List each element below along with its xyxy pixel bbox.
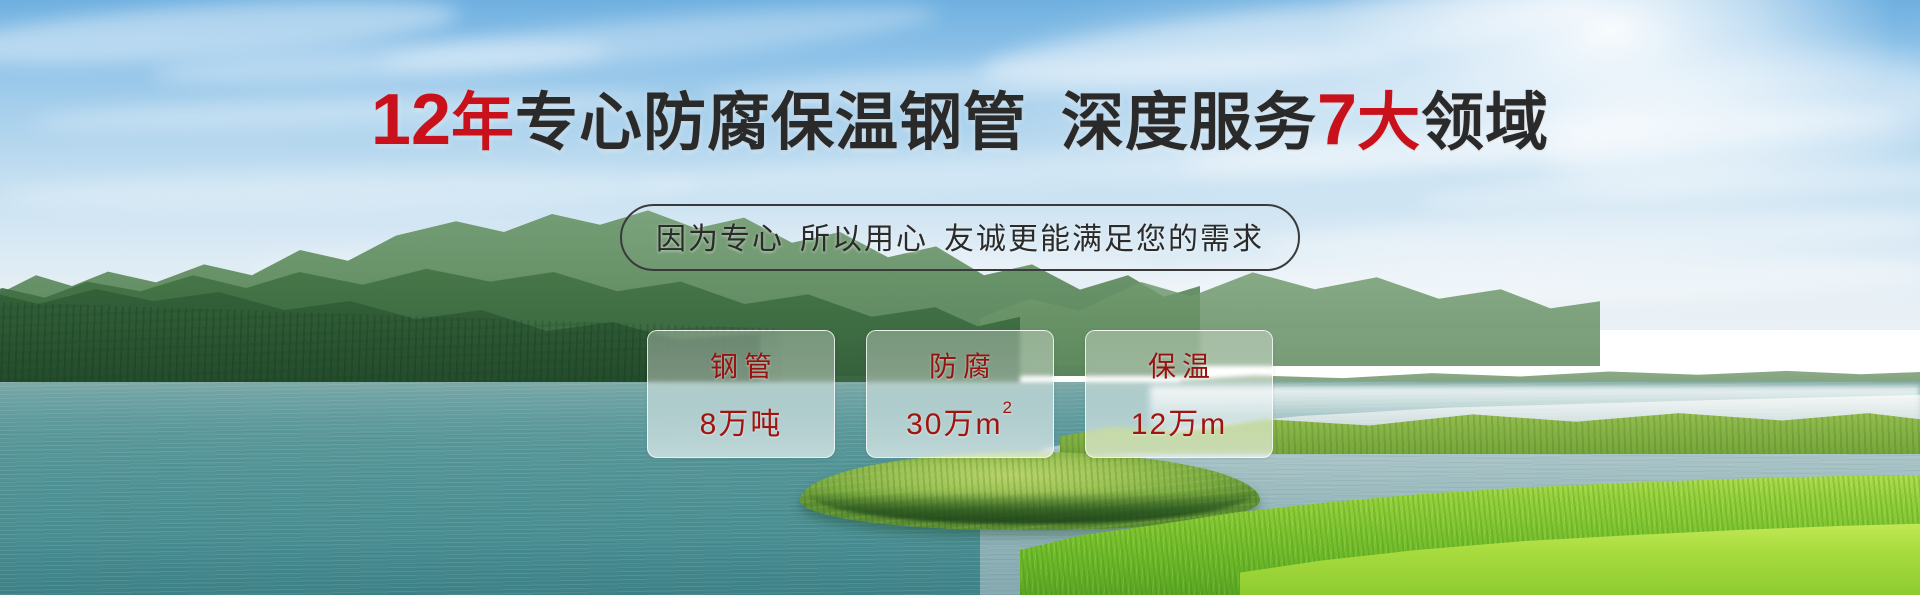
stat-value-unit: 万m [943,408,1002,441]
stat-value-number: 8 [700,408,719,441]
headline-highlight-number: 7 [1317,80,1357,160]
stat-card-title: 保温 [1142,345,1216,385]
subtitle-segment-3: 友诚更能满足您的需求 [944,223,1264,256]
promo-banner: 12年专心防腐保温钢管深度服务7大领域 因为专心所以用心友诚更能满足您的需求 钢… [0,0,1920,595]
headline-years-unit: 年 [451,88,515,158]
stat-card-steel-pipe[interactable]: 钢管 8万吨 [647,330,835,458]
cloud-wisp-icon [0,164,700,216]
stat-card-value: 12万m [1131,399,1227,443]
headline-part3: 领域 [1421,88,1549,158]
headline-highlight-unit: 大 [1357,88,1421,158]
stat-value-unit: 万m [1168,408,1227,441]
stat-value-number: 12 [1131,408,1168,441]
stat-card-value: 30万m2 [906,399,1014,443]
subtitle-segment-1: 因为专心 [656,223,784,256]
banner-subtitle-pill: 因为专心所以用心友诚更能满足您的需求 [620,204,1300,271]
headline-part1: 专心防腐保温钢管 [515,88,1027,158]
stat-card-title: 防腐 [923,345,997,385]
banner-headline: 12年专心防腐保温钢管深度服务7大领域 [0,82,1920,160]
stat-card-group: 钢管 8万吨 防腐 30万m2 保温 12万m [647,330,1273,458]
stat-card-value: 8万吨 [700,399,783,443]
stat-card-title: 钢管 [704,345,778,385]
subtitle-segment-2: 所以用心 [800,223,928,256]
stat-value-unit: 万吨 [718,408,782,441]
headline-years-number: 12 [371,80,451,160]
stat-value-number: 30 [906,408,943,441]
stat-value-superscript: 2 [1002,398,1013,417]
stat-card-anticorrosion[interactable]: 防腐 30万m2 [866,330,1054,458]
stat-card-insulation[interactable]: 保温 12万m [1085,330,1273,458]
headline-part2: 深度服务 [1061,88,1317,158]
